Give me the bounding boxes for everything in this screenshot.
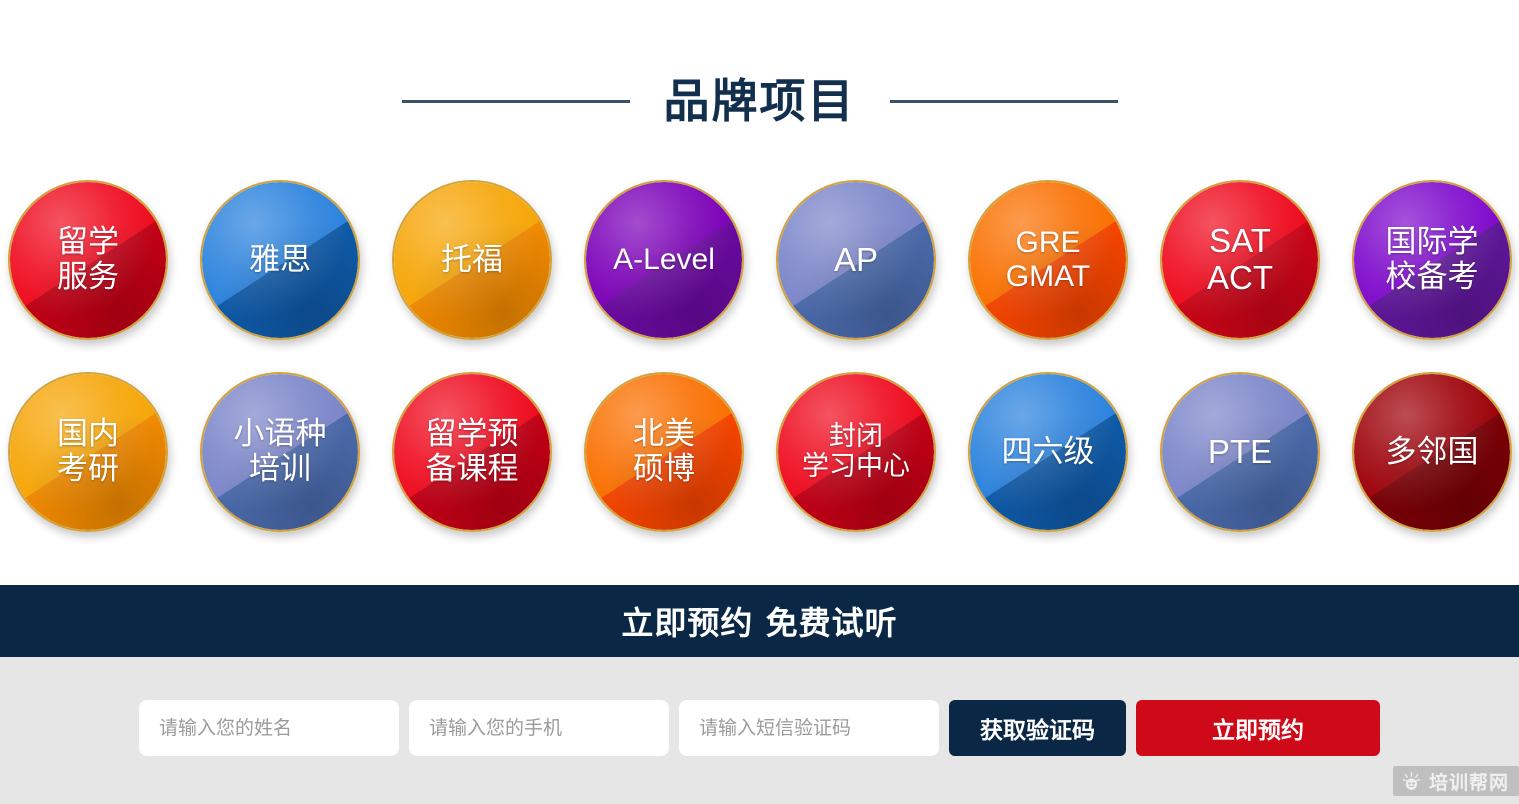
sms-code-input[interactable] [679, 700, 939, 756]
program-circle[interactable]: 北美硕博 [584, 372, 744, 532]
program-circle-gloss [778, 182, 934, 338]
program-circle[interactable]: 四六级 [968, 372, 1128, 532]
program-circle-row-1: 留学服务雅思托福A-LevelAPGREGMATSATACT国际学校备考 [0, 180, 1519, 350]
booking-form: 获取验证码 立即预约 [139, 700, 1380, 756]
program-circle[interactable]: 小语种培训 [200, 372, 360, 532]
watermark-text: 培训帮网 [1429, 768, 1509, 795]
program-circle[interactable]: 雅思 [200, 180, 360, 340]
program-circle[interactable]: 封闭学习中心 [776, 372, 936, 532]
program-circle-gloss [1162, 182, 1318, 338]
program-circle-gloss [1354, 182, 1510, 338]
program-circle-gloss [1354, 374, 1510, 530]
program-circle[interactable]: 留学预备课程 [392, 372, 552, 532]
program-circle[interactable]: AP [776, 180, 936, 340]
submit-booking-button[interactable]: 立即预约 [1136, 700, 1380, 756]
program-circle[interactable]: SATACT [1160, 180, 1320, 340]
program-circle[interactable]: 国际学校备考 [1352, 180, 1512, 340]
section-header: 品牌项目 [0, 58, 1519, 144]
program-circle-gloss [586, 182, 742, 338]
sun-face-icon [1401, 771, 1422, 792]
booking-banner: 立即预约 免费试听 [0, 585, 1519, 657]
program-circle-gloss [970, 182, 1126, 338]
program-circle[interactable]: GREGMAT [968, 180, 1128, 340]
get-verification-code-button[interactable]: 获取验证码 [949, 700, 1126, 756]
program-circle[interactable]: 多邻国 [1352, 372, 1512, 532]
title-rule-right [890, 100, 1118, 103]
name-input[interactable] [139, 700, 399, 756]
program-circle-gloss [394, 374, 550, 530]
program-circle-gloss [586, 374, 742, 530]
program-circle-gloss [1162, 374, 1318, 530]
booking-form-strip: 获取验证码 立即预约 [0, 657, 1519, 804]
program-circle[interactable]: A-Level [584, 180, 744, 340]
watermark: 培训帮网 [1393, 766, 1519, 796]
program-circle-gloss [202, 374, 358, 530]
phone-input[interactable] [409, 700, 669, 756]
program-circle-gloss [202, 182, 358, 338]
program-circle-gloss [10, 374, 166, 530]
program-circle-gloss [970, 374, 1126, 530]
page-title: 品牌项目 [664, 78, 856, 124]
program-circle[interactable]: PTE [1160, 372, 1320, 532]
program-circle-gloss [394, 182, 550, 338]
program-circle[interactable]: 国内考研 [8, 372, 168, 532]
program-circle-gloss [10, 182, 166, 338]
title-rule-left [402, 100, 630, 103]
program-circle-row-2: 国内考研小语种培训留学预备课程北美硕博封闭学习中心四六级PTE多邻国 [0, 372, 1519, 542]
program-circle[interactable]: 托福 [392, 180, 552, 340]
program-circle-gloss [778, 374, 934, 530]
booking-banner-title: 立即预约 免费试听 [621, 598, 897, 644]
program-circle[interactable]: 留学服务 [8, 180, 168, 340]
